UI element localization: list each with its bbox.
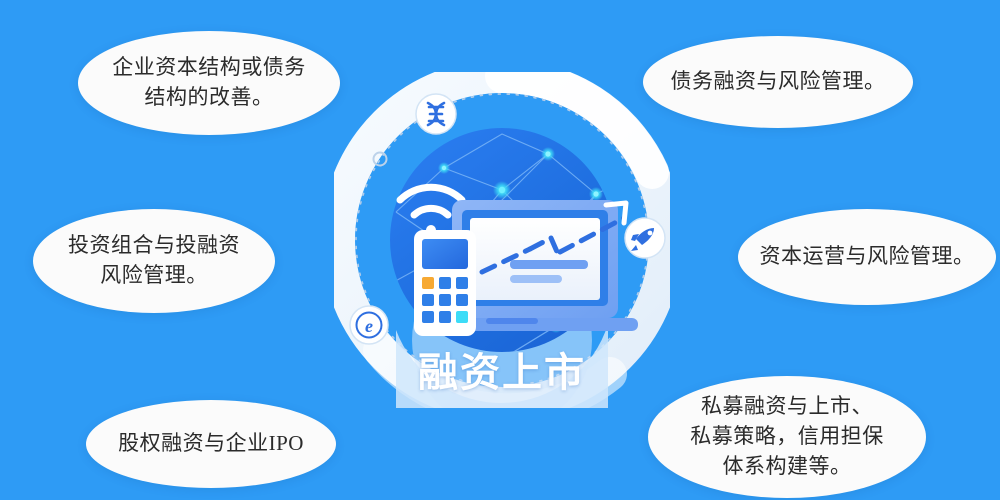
bubble-line: 资本运营与风险管理。 [750,242,984,272]
bubble-line: 私募策略，信用担保 [660,422,914,452]
bubble-line: 结构的改善。 [90,83,328,113]
calculator-icon [414,230,476,336]
bubble-text: 投资组合与投融资 风险管理。 [45,231,263,291]
bubble-capital-operation[interactable]: 资本运营与风险管理。 [738,209,996,305]
bubble-line: 债务融资与风险管理。 [655,67,901,97]
bubble-capital-structure[interactable]: 企业资本结构或债务 结构的改善。 [78,31,340,135]
bubble-text: 债务融资与风险管理。 [655,67,901,97]
infographic-canvas: e 融资上市 企业资本结构或债务 结构的改善。 债务融资与风险管理。 投资组合与… [0,0,1000,500]
dna-icon [416,94,456,134]
screen-bar-2 [510,275,562,283]
svg-text:e: e [365,316,373,336]
rocket-icon [625,218,665,258]
bubble-line: 体系构建等。 [660,452,914,482]
bubble-text: 企业资本结构或债务 结构的改善。 [90,53,328,113]
internet-explorer-e-icon: e [350,306,388,344]
bubble-line: 股权融资与企业IPO [98,429,324,459]
central-illustration: e 融资上市 [334,72,670,408]
bubble-debt-financing[interactable]: 债务融资与风险管理。 [643,36,913,128]
bubble-equity-financing-ipo[interactable]: 股权融资与企业IPO [86,400,336,488]
bubble-line: 投资组合与投融资 [45,231,263,261]
bubble-line: 私募融资与上市、 [660,392,914,422]
bubble-text: 私募融资与上市、 私募策略，信用担保 体系构建等。 [660,392,914,481]
bubble-line: 风险管理。 [45,261,263,291]
bubble-text: 股权融资与企业IPO [98,429,324,459]
bubble-line: 企业资本结构或债务 [90,53,328,83]
bubble-text: 资本运营与风险管理。 [750,242,984,272]
bubble-private-placement[interactable]: 私募融资与上市、 私募策略，信用担保 体系构建等。 [648,376,926,498]
screen-bar-1 [510,260,588,269]
bubble-investment-portfolio[interactable]: 投资组合与投融资 风险管理。 [33,209,275,313]
